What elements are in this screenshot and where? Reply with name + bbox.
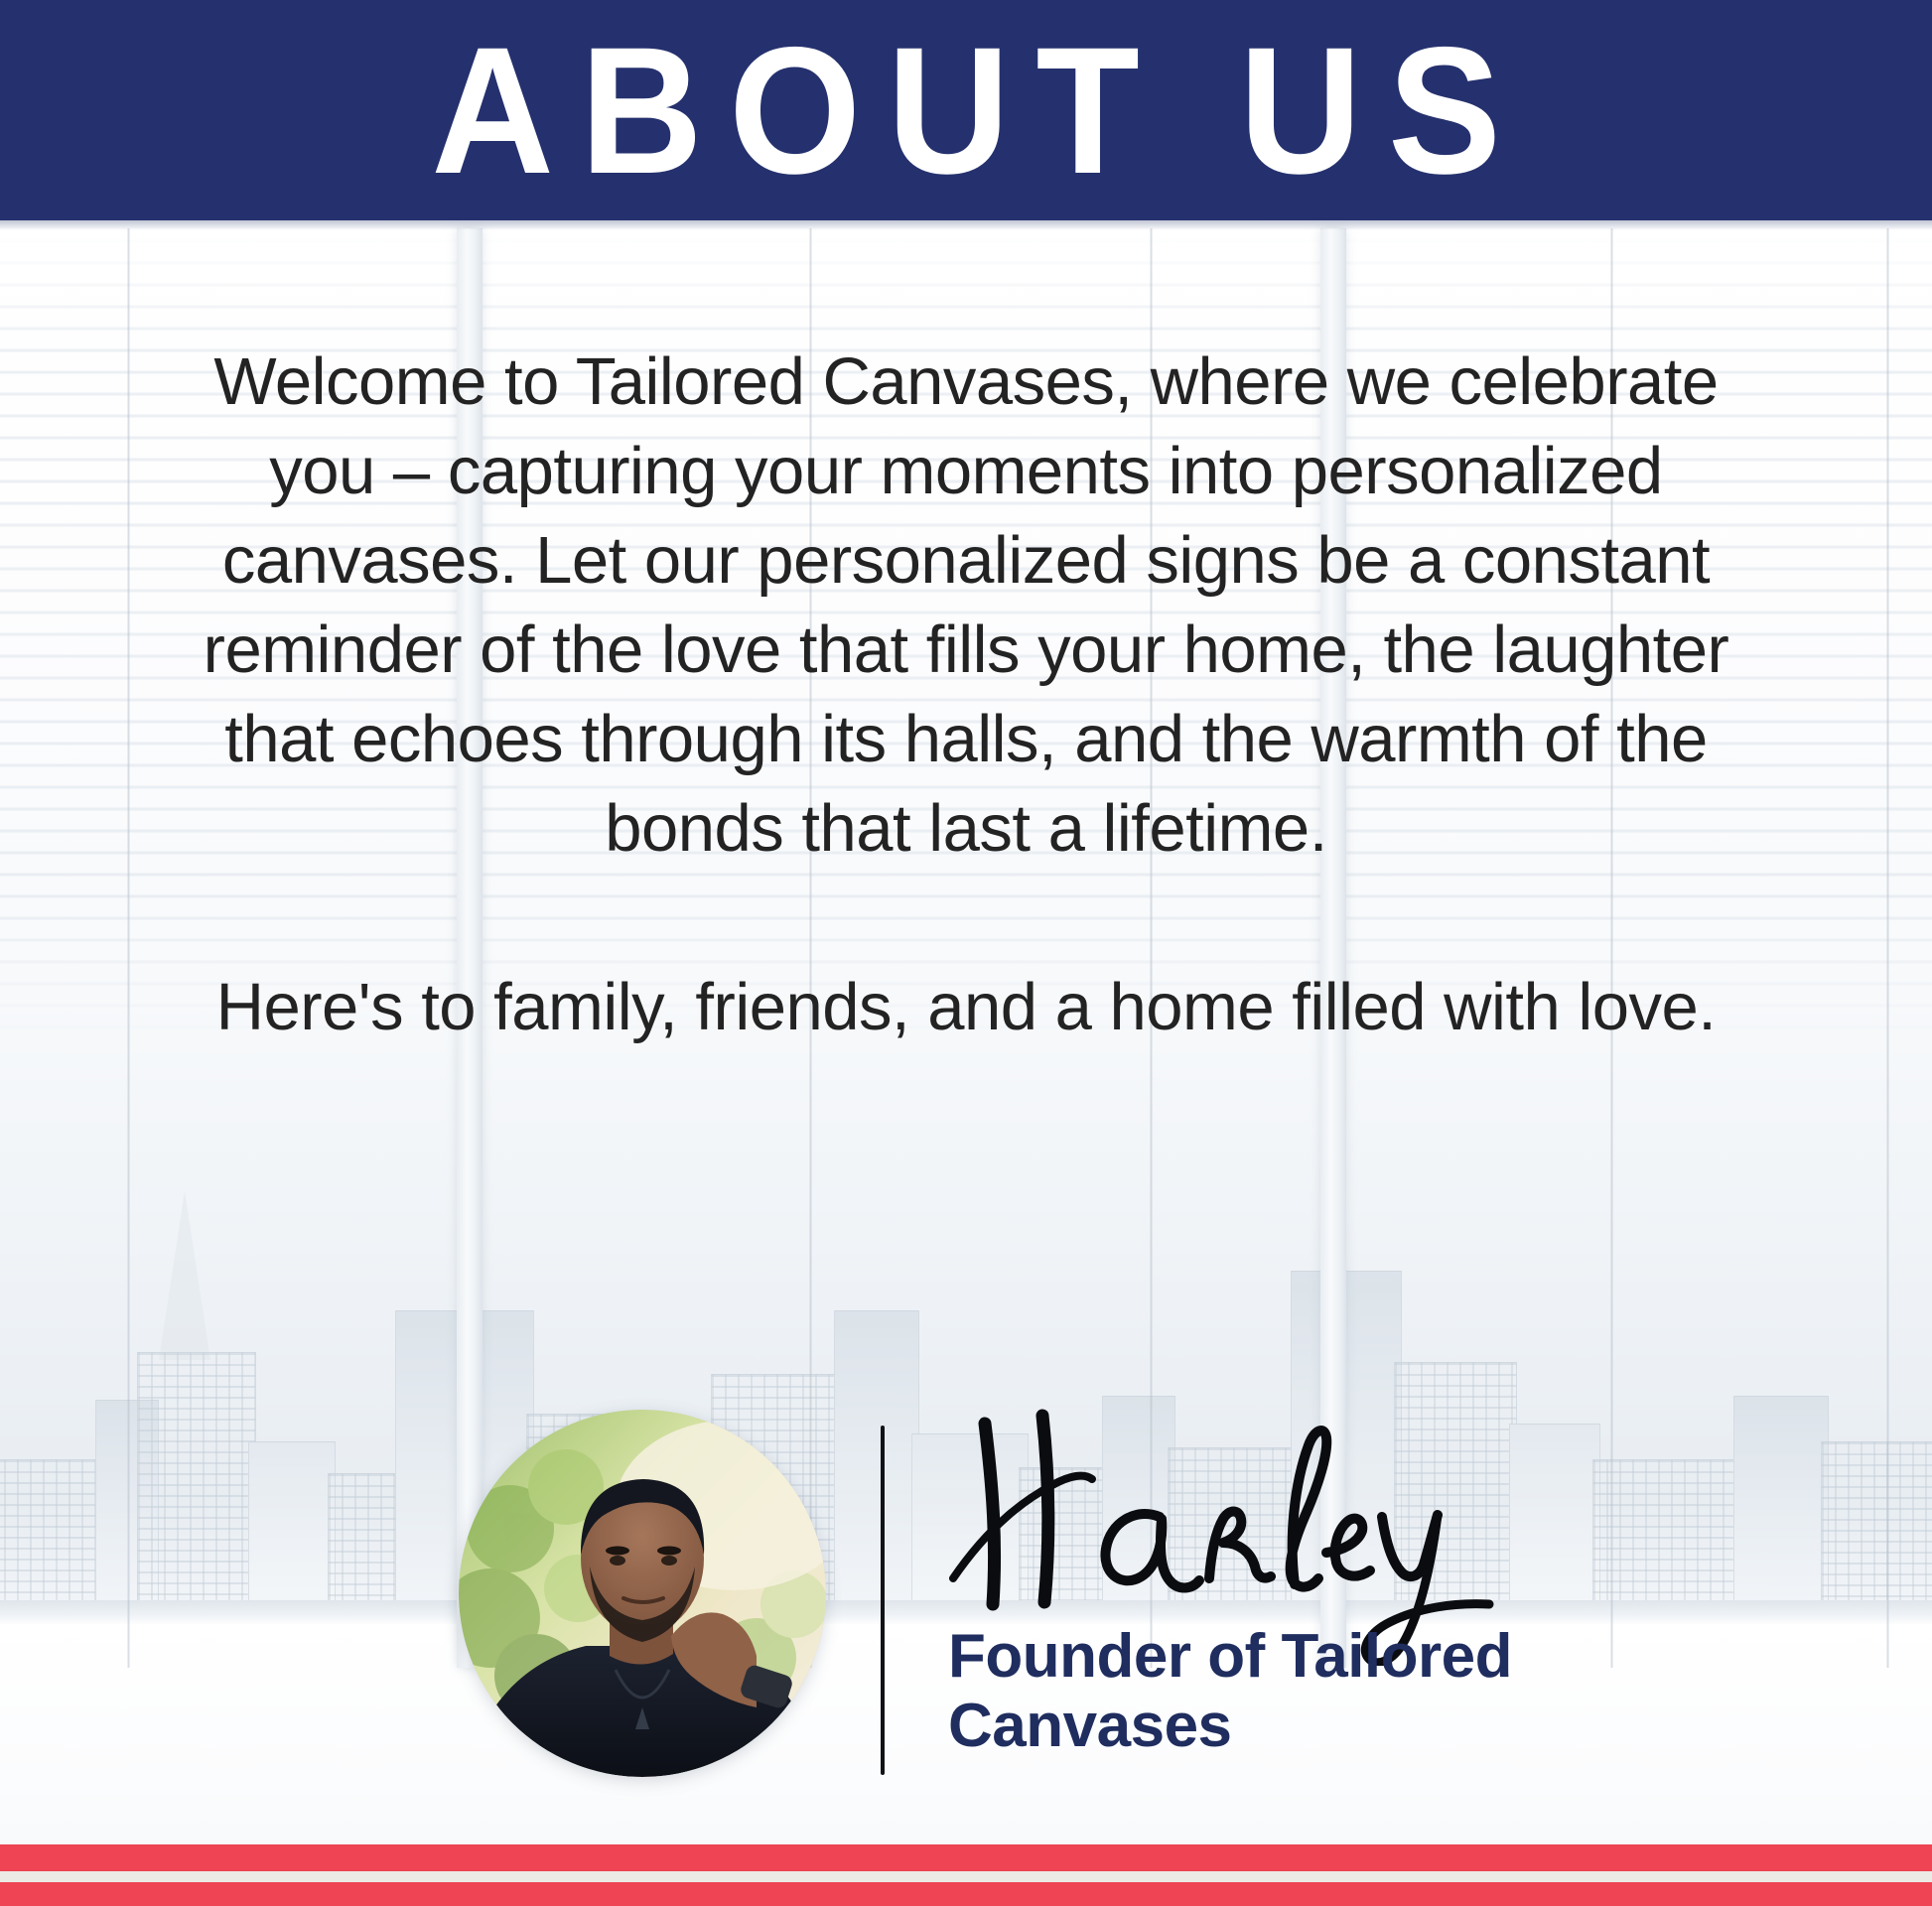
signature-harley (894, 1368, 1529, 1666)
header-banner: ABOUT US (0, 0, 1932, 220)
paragraph-spacer (189, 874, 1743, 963)
signature-divider (881, 1426, 885, 1775)
avatar (459, 1410, 826, 1777)
about-copy: Welcome to Tailored Canvases, where we c… (189, 338, 1743, 1052)
about-us-poster: ABOUT US Welcome to Tailored Canvases, w… (0, 0, 1932, 1906)
paragraph-1: Welcome to Tailored Canvases, where we c… (189, 338, 1743, 874)
signature-block: Founder of Tailored Canvases (0, 1390, 1932, 1807)
footer-stripe-gap (0, 1871, 1932, 1882)
signature-role-line-1: Founder of Tailored (948, 1622, 1723, 1692)
footer-stripe-bottom (0, 1882, 1932, 1906)
signature-role: Founder of Tailored Canvases (948, 1622, 1723, 1761)
paragraph-2: Here's to family, friends, and a home fi… (189, 963, 1743, 1052)
page-title: ABOUT US (405, 20, 1527, 201)
footer-stripe-top (0, 1844, 1932, 1871)
signature-role-line-2: Canvases (948, 1692, 1723, 1761)
header-shadow-edge (0, 220, 1932, 230)
